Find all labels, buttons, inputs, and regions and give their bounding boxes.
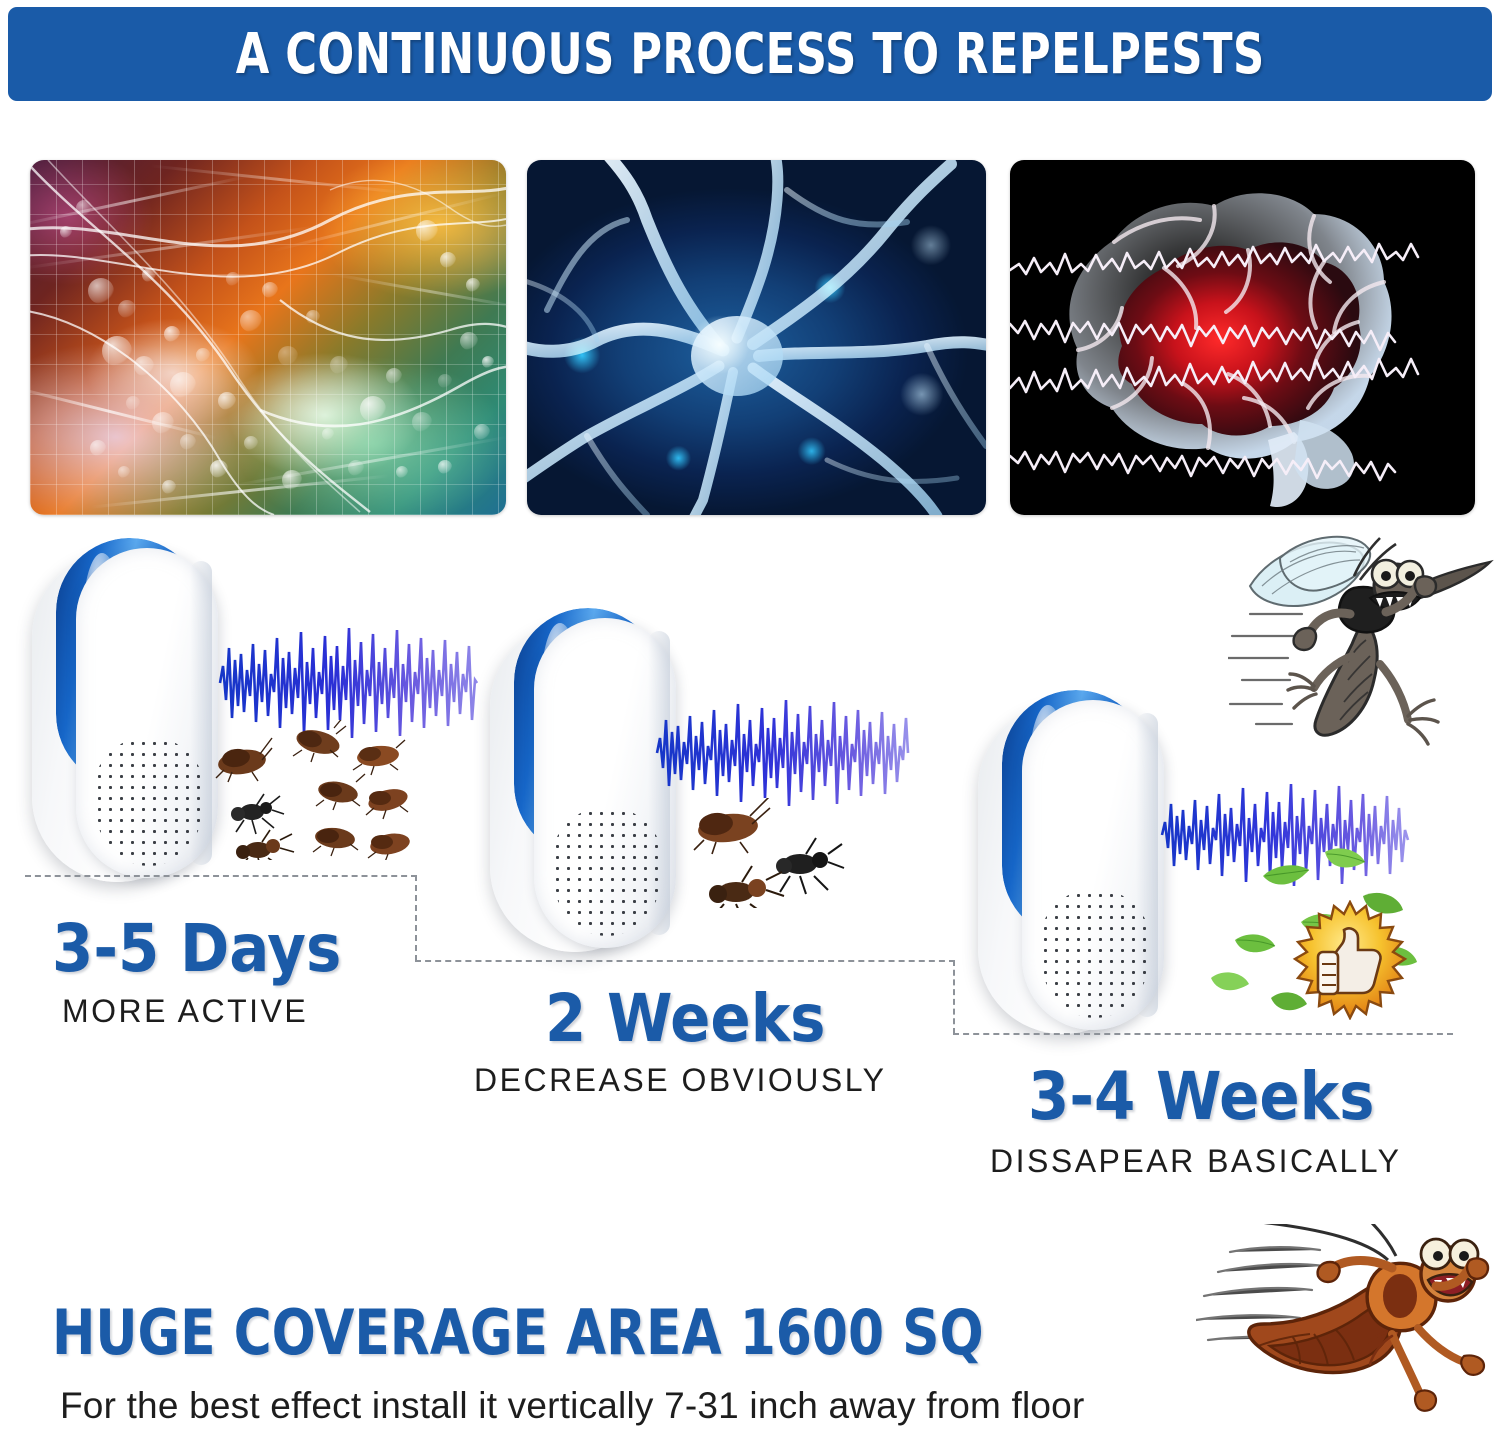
page-title: A CONTINUOUS PROCESS TO REPELPESTS <box>236 22 1265 87</box>
step-connector-1-horizontal <box>25 875 417 877</box>
step-connector-1-vertical <box>415 875 417 961</box>
stage-3-caption: DISSAPEAR BASICALLY <box>990 1143 1402 1180</box>
thumbs-up-badge <box>1290 900 1410 1020</box>
cockroach <box>353 740 405 775</box>
ant <box>709 866 784 908</box>
cockroach <box>313 826 358 856</box>
device-stage-1 <box>32 538 232 888</box>
cockroach <box>366 785 410 819</box>
coverage-headline: HUGE COVERAGE AREA 1600 SQ <box>52 1296 984 1369</box>
fleeing-cockroach-mascot <box>1196 1224 1496 1424</box>
step-connector-2-vertical <box>953 960 955 1034</box>
image-abstract-technology-data-grid <box>30 160 506 515</box>
brain-and-eeg-waves <box>1010 160 1475 515</box>
image-brain-with-brainwaves <box>1010 160 1475 515</box>
device-stage-3 <box>978 690 1178 1040</box>
stage-3-duration: 3-4 Weeks <box>1028 1058 1375 1135</box>
cockroach <box>316 774 365 810</box>
stage-1-duration: 3-5 Days <box>52 910 341 987</box>
header-banner: A CONTINUOUS PROCESS TO REPELPESTS <box>8 7 1492 101</box>
pest-group-stage-1 <box>210 720 410 860</box>
ant <box>236 830 294 860</box>
abstract-curves <box>30 160 506 515</box>
cockroach <box>694 798 772 854</box>
cockroach <box>368 831 410 860</box>
image-blue-neuron-network <box>527 160 986 515</box>
pest-group-stage-2 <box>680 798 870 908</box>
stage-2-caption: DECREASE OBVIOUSLY <box>474 1062 887 1099</box>
stage-2-duration: 2 Weeks <box>545 980 826 1057</box>
ant <box>231 794 284 834</box>
ant <box>776 838 844 894</box>
step-connector-3-horizontal <box>953 1033 1453 1035</box>
step-connector-2-horizontal <box>415 960 955 962</box>
cockroach <box>216 738 272 782</box>
cockroach <box>293 720 346 762</box>
infographic-page: A CONTINUOUS PROCESS TO REPELPESTS <box>0 0 1500 1435</box>
stage-1-caption: MORE ACTIVE <box>62 993 308 1030</box>
fleeing-mosquito-mascot <box>1228 528 1500 783</box>
installation-note: For the best effect install it verticall… <box>60 1385 1084 1427</box>
